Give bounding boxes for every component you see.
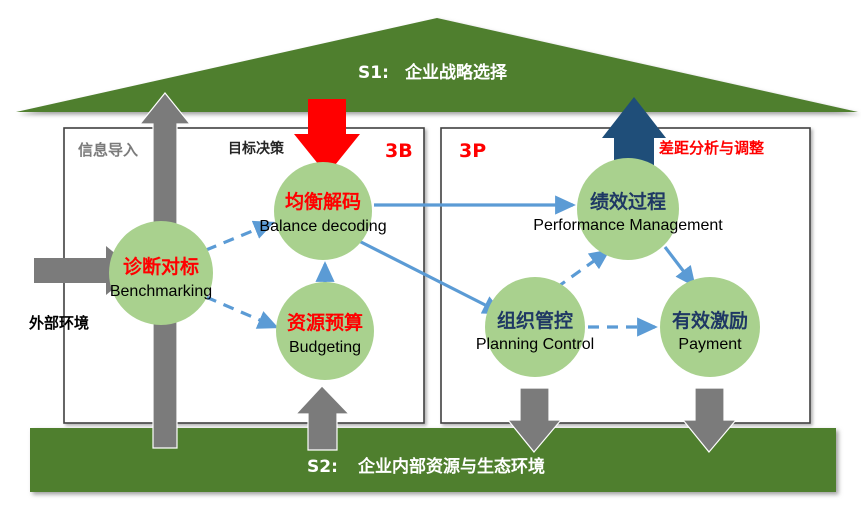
node-label-cn: 组织管控 (497, 309, 573, 332)
node-budgeting[interactable]: 资源预算 Budgeting (276, 282, 374, 380)
node-payment[interactable]: 有效激励 Payment (660, 277, 760, 377)
node-label-cn: 资源预算 (287, 311, 363, 334)
node-label-en: Planning Control (476, 336, 594, 353)
node-label-en: Balance decoding (259, 218, 386, 235)
node-label-cn: 绩效过程 (590, 190, 666, 213)
node-label-cn: 有效激励 (672, 309, 748, 332)
foundation-title: 企业内部资源与生态环境 (357, 456, 545, 477)
external-input-arrow-tail (34, 258, 108, 283)
label-information-input: 信息导入 (78, 141, 138, 159)
roof-banner: S1: 企业战略选择 (16, 18, 858, 112)
node-benchmarking[interactable]: 诊断对标 Benchmarking (109, 221, 213, 325)
roof-code: S1: (358, 63, 389, 83)
tag-3b: 3B (385, 140, 413, 162)
label-gap-analysis: 差距分析与调整 (659, 139, 764, 157)
label-goal-decision: 目标决策 (228, 140, 285, 157)
foundation-code: S2: (307, 457, 338, 477)
label-external-environment: 外部环境 (28, 314, 89, 332)
roof-title: 企业战略选择 (404, 62, 508, 83)
node-label-en: Budgeting (289, 339, 361, 356)
node-label-en: Benchmarking (110, 283, 212, 300)
node-label-en: Performance Management (533, 217, 723, 234)
node-label-en: Payment (678, 336, 742, 353)
strategy-house-diagram: S1: 企业战略选择 S2: 企业内部资源与生态环境 (0, 0, 861, 515)
node-label-cn: 诊断对标 (123, 255, 199, 278)
tag-3p: 3P (459, 140, 486, 162)
node-label-cn: 均衡解码 (285, 190, 361, 213)
diagram-canvas: S1: 企业战略选择 S2: 企业内部资源与生态环境 (0, 0, 861, 515)
